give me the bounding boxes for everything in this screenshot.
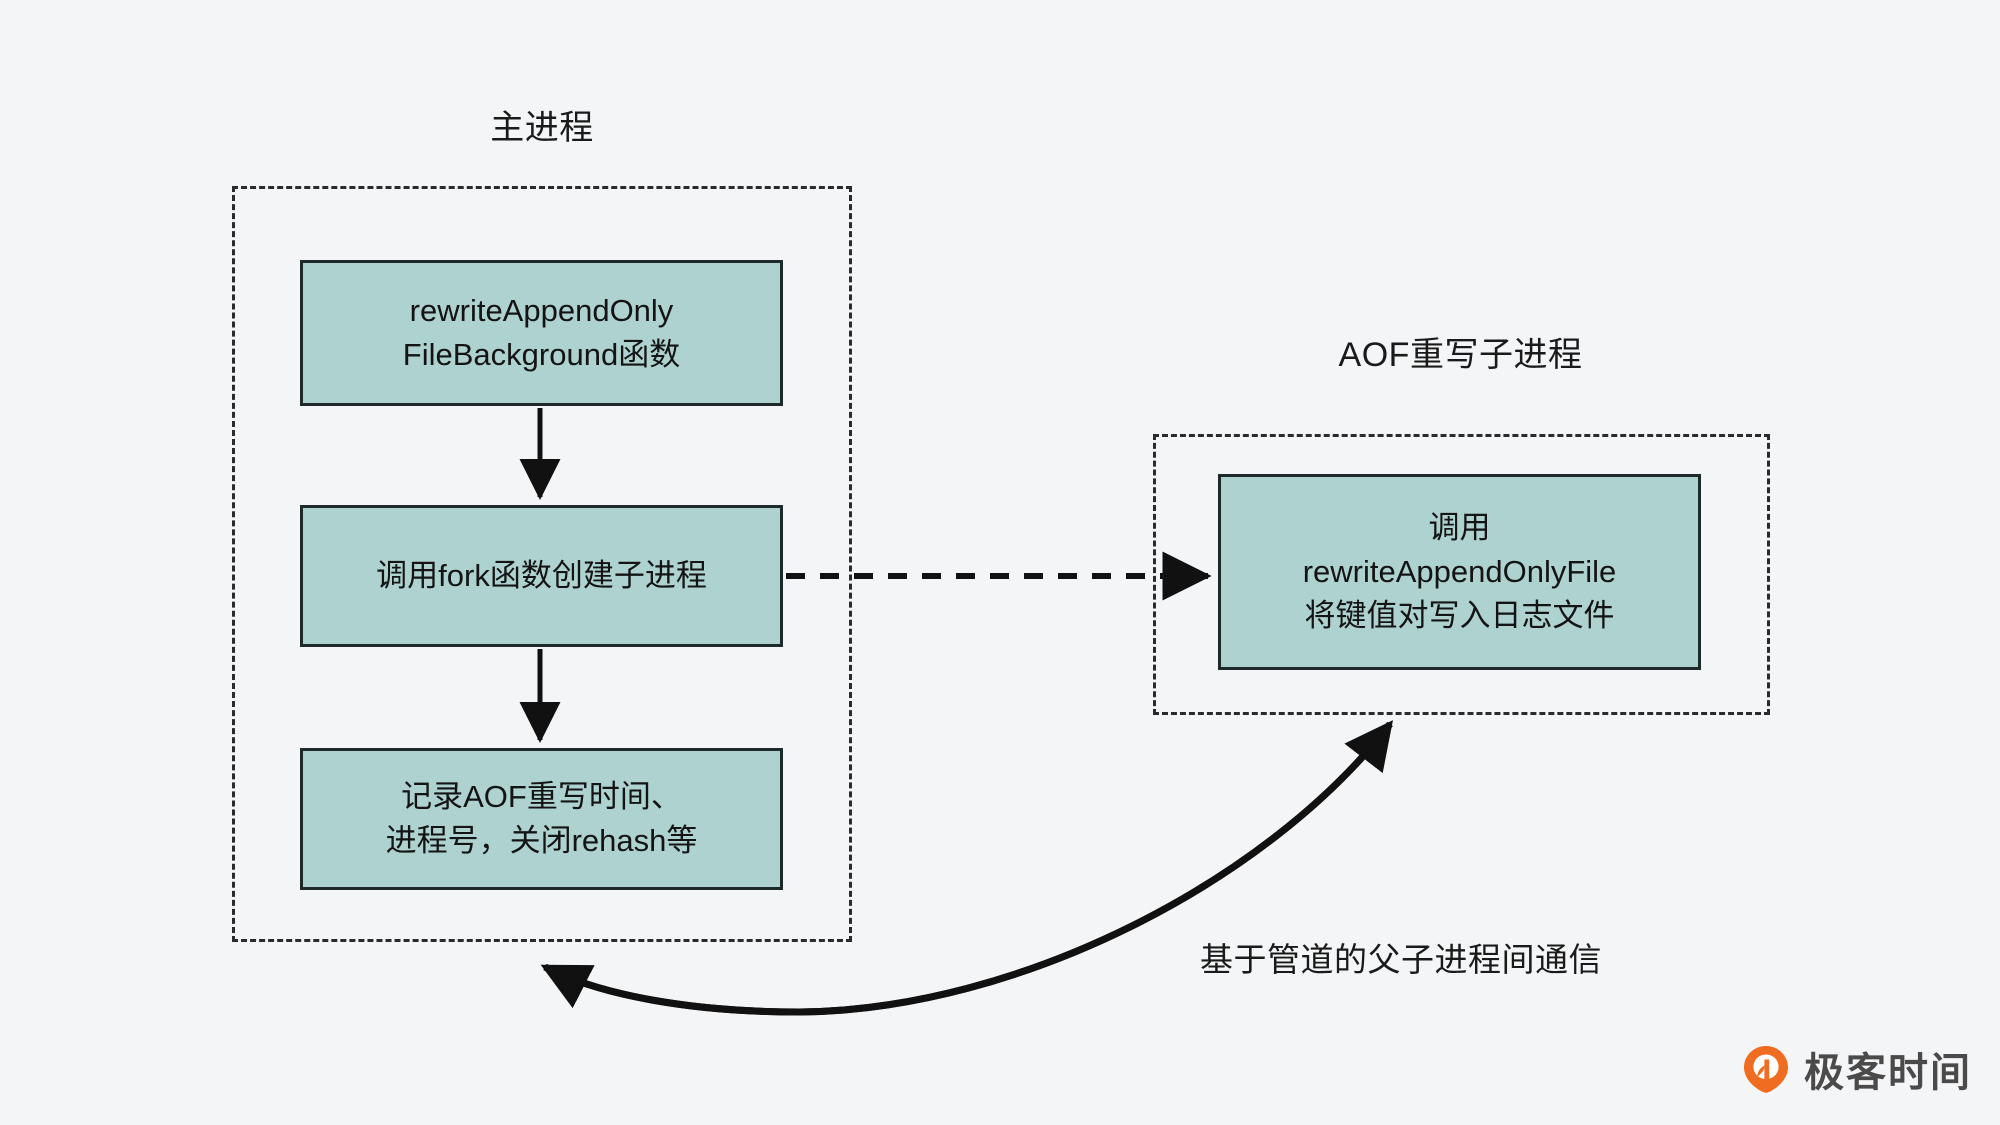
node-rewrite-append-only-file-background[interactable]: rewriteAppendOnly FileBackground函数 <box>300 260 783 406</box>
node-line: rewriteAppendOnlyFile <box>1303 550 1617 594</box>
node-line: 调用 <box>1303 506 1617 550</box>
watermark-text: 极客时间 <box>1804 1040 1972 1098</box>
node-record-aof-rewrite-info[interactable]: 记录AOF重写时间、 进程号，关闭rehash等 <box>300 748 783 890</box>
main-process-title: 主进程 <box>232 108 852 149</box>
node-line: 记录AOF重写时间、 <box>386 775 698 819</box>
node-line: 将键值对写入日志文件 <box>1303 594 1617 638</box>
pipe-communication-caption: 基于管道的父子进程间通信 <box>1200 933 1602 981</box>
diagram-canvas: 主进程 AOF重写子进程 rewriteAppendOnly FileBackg… <box>0 0 2000 1125</box>
node-line: 调用fork函数创建子进程 <box>376 554 707 598</box>
watermark: 极客时间 <box>1740 1040 1972 1098</box>
node-line: rewriteAppendOnly <box>403 289 680 333</box>
child-process-title: AOF重写子进程 <box>1153 335 1768 376</box>
node-child-rewrite-append-only-file[interactable]: 调用 rewriteAppendOnlyFile 将键值对写入日志文件 <box>1218 474 1701 670</box>
node-call-fork-create-child-process[interactable]: 调用fork函数创建子进程 <box>300 505 783 647</box>
geektime-logo-icon <box>1740 1043 1792 1095</box>
node-line: FileBackground函数 <box>403 333 680 377</box>
node-line: 进程号，关闭rehash等 <box>386 819 698 863</box>
